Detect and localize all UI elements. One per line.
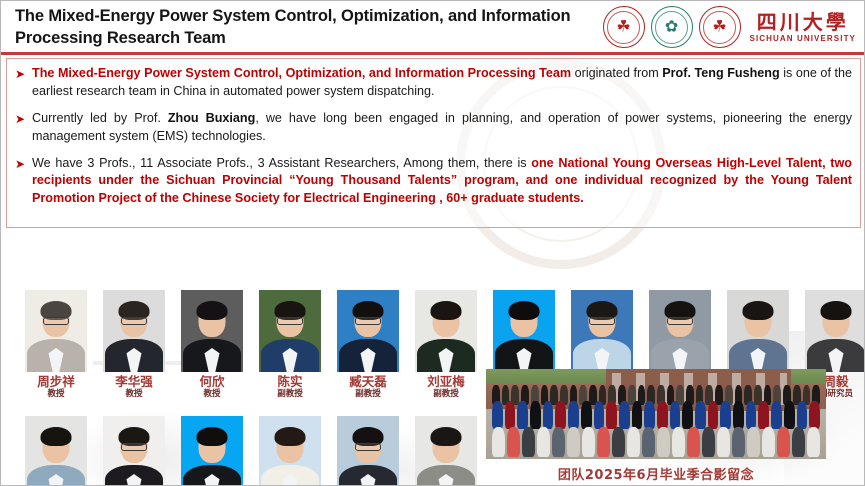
portrait-hair bbox=[431, 427, 462, 446]
group-photo-person bbox=[733, 401, 744, 429]
team-member-card[interactable]: 李华强教授 bbox=[103, 290, 165, 399]
slide-header: The Mixed-Energy Power System Control, O… bbox=[1, 1, 864, 52]
group-photo-person bbox=[792, 427, 805, 457]
group-photo-person bbox=[517, 401, 528, 429]
group-photo-person bbox=[777, 427, 790, 457]
portrait-hair bbox=[821, 301, 852, 320]
portrait-hair bbox=[431, 301, 462, 320]
member-portrait bbox=[337, 416, 399, 486]
group-photo-person bbox=[543, 401, 554, 429]
team-member-card[interactable]: 古宸嘉助理研究员 bbox=[337, 416, 399, 486]
slide-root: The Mixed-Energy Power System Control, O… bbox=[0, 0, 865, 486]
portrait-glasses bbox=[667, 317, 693, 325]
group-photo-person bbox=[672, 427, 685, 457]
bullet-item: ➤We have 3 Profs., 11 Associate Profs., … bbox=[15, 155, 852, 209]
group-photo-person bbox=[644, 401, 655, 429]
bullet-text-run: We have 3 Profs., 11 Associate Profs., 3… bbox=[32, 156, 531, 170]
group-photo-middle-row bbox=[492, 401, 820, 429]
group-photo-person bbox=[582, 427, 595, 457]
portrait-hair bbox=[509, 301, 540, 320]
member-portrait bbox=[103, 290, 165, 372]
group-photo-person bbox=[552, 427, 565, 457]
member-title: 教授 bbox=[181, 390, 243, 399]
group-photo-person bbox=[581, 401, 592, 429]
bullet-text-run: Zhou Buxiang bbox=[168, 111, 255, 125]
member-portrait bbox=[259, 290, 321, 372]
group-photo-person bbox=[597, 427, 610, 457]
header-divider bbox=[1, 52, 865, 55]
bullet-text: The Mixed-Energy Power System Control, O… bbox=[32, 65, 852, 101]
bullet-text-run: Currently led by Prof. bbox=[32, 111, 168, 125]
member-portrait bbox=[337, 290, 399, 372]
group-photo-person bbox=[702, 427, 715, 457]
bullet-text: Currently led by Prof. Zhou Buxiang, we … bbox=[32, 110, 852, 146]
group-photo-person bbox=[555, 401, 566, 429]
member-portrait bbox=[181, 416, 243, 486]
bullet-text-run: The Mixed-Energy Power System Control, O… bbox=[32, 66, 571, 80]
team-member-card[interactable]: 刘亚梅副教授 bbox=[415, 290, 477, 399]
bullet-arrow-icon: ➤ bbox=[15, 110, 32, 128]
bullet-arrow-icon: ➤ bbox=[15, 155, 32, 173]
group-photo-person bbox=[522, 427, 535, 457]
member-title: 教授 bbox=[25, 390, 87, 399]
group-photo-person bbox=[657, 401, 668, 429]
group-photo-person bbox=[797, 401, 808, 429]
group-photo-person bbox=[619, 401, 630, 429]
group-photo-person bbox=[682, 401, 693, 429]
portrait-glasses bbox=[589, 317, 615, 325]
member-portrait bbox=[415, 290, 477, 372]
group-photo-person bbox=[747, 427, 760, 457]
portrait-glasses bbox=[277, 317, 303, 325]
member-portrait bbox=[415, 416, 477, 486]
group-photo-block: 团队2025年6月毕业季合影留念 bbox=[486, 369, 826, 483]
member-portrait bbox=[649, 290, 711, 372]
member-name: 臧天磊 bbox=[337, 375, 399, 388]
portrait-hair bbox=[197, 301, 228, 320]
group-photo-person bbox=[708, 401, 719, 429]
team-member-card[interactable]: 余雪莒助理研究员 bbox=[259, 416, 321, 486]
member-portrait bbox=[103, 416, 165, 486]
member-title: 副教授 bbox=[337, 390, 399, 399]
group-photo-person bbox=[809, 401, 820, 429]
bullet-text-run: Prof. Teng Fusheng bbox=[662, 66, 779, 80]
member-title: 教授 bbox=[103, 390, 165, 399]
group-photo-person bbox=[492, 427, 505, 457]
member-title: 副教授 bbox=[259, 390, 321, 399]
team-member-card[interactable]: 阮嘉祺副研究员 bbox=[103, 416, 165, 486]
team-member-card[interactable]: 臧天磊副教授 bbox=[337, 290, 399, 399]
logo-group: ☘ ✿ ☘ 四川大學 SICHUAN UNIVERSITY bbox=[603, 5, 856, 49]
group-photo-person bbox=[657, 427, 670, 457]
team-member-card[interactable]: 刘芝孟副研究员 bbox=[181, 416, 243, 486]
portrait-hair bbox=[197, 427, 228, 446]
member-portrait bbox=[571, 290, 633, 372]
group-photo-person bbox=[568, 401, 579, 429]
sichuan-university-wordmark: 四川大學 SICHUAN UNIVERSITY bbox=[750, 12, 856, 43]
wordmark-chinese: 四川大學 bbox=[750, 12, 856, 32]
bullet-text-run: originated from bbox=[571, 66, 662, 80]
wordmark-english: SICHUAN UNIVERSITY bbox=[750, 35, 856, 43]
seal-logo-1-glyph: ☘ bbox=[604, 19, 644, 35]
team-member-card[interactable]: 周步祥教授 bbox=[25, 290, 87, 399]
group-photo-person bbox=[670, 401, 681, 429]
group-photo-caption: 团队2025年6月毕业季合影留念 bbox=[486, 464, 826, 483]
group-photo-person bbox=[717, 427, 730, 457]
member-name: 刘亚梅 bbox=[415, 375, 477, 388]
group-photo-person bbox=[537, 427, 550, 457]
member-portrait bbox=[805, 290, 865, 372]
member-title: 副教授 bbox=[415, 390, 477, 399]
portrait-glasses bbox=[121, 443, 147, 451]
bullet-item: ➤The Mixed-Energy Power System Control, … bbox=[15, 65, 852, 101]
member-portrait bbox=[259, 416, 321, 486]
seal-logo-2-icon: ✿ bbox=[651, 6, 693, 48]
member-name: 周步祥 bbox=[25, 375, 87, 388]
portrait-glasses bbox=[121, 317, 147, 325]
portrait-hair bbox=[41, 427, 72, 446]
group-photo-person bbox=[695, 401, 706, 429]
portrait-glasses bbox=[355, 443, 381, 451]
group-photo-person bbox=[732, 427, 745, 457]
group-photo-person bbox=[606, 401, 617, 429]
group-photo-person bbox=[627, 427, 640, 457]
group-photo-person bbox=[807, 427, 820, 457]
portrait-glasses bbox=[355, 317, 381, 325]
group-photo-person bbox=[632, 401, 643, 429]
group-photo-person bbox=[720, 401, 731, 429]
group-photo-person bbox=[642, 427, 655, 457]
member-name: 李华强 bbox=[103, 375, 165, 388]
team-member-card[interactable]: 刘力舟副研究员 bbox=[25, 416, 87, 486]
group-photo-image bbox=[486, 369, 826, 459]
team-member-card[interactable]: 何欣教授 bbox=[181, 290, 243, 399]
group-photo-person bbox=[594, 401, 605, 429]
portrait-hair bbox=[743, 301, 774, 320]
group-photo-person bbox=[746, 401, 757, 429]
group-photo-person bbox=[567, 427, 580, 457]
group-photo-person bbox=[687, 427, 700, 457]
team-member-card[interactable]: 杨龙杰讲师 bbox=[415, 416, 477, 486]
group-photo-person bbox=[612, 427, 625, 457]
group-photo-person bbox=[507, 427, 520, 457]
member-name: 陈实 bbox=[259, 375, 321, 388]
group-photo-person bbox=[784, 401, 795, 429]
description-textbox: ➤The Mixed-Energy Power System Control, … bbox=[6, 58, 861, 228]
member-portrait bbox=[25, 416, 87, 486]
group-photo-person bbox=[762, 427, 775, 457]
group-photo-person bbox=[771, 401, 782, 429]
bullet-text: We have 3 Profs., 11 Associate Profs., 3… bbox=[32, 155, 852, 209]
seal-logo-3-icon: ☘ bbox=[699, 6, 741, 48]
member-name: 何欣 bbox=[181, 375, 243, 388]
bullet-item: ➤Currently led by Prof. Zhou Buxiang, we… bbox=[15, 110, 852, 146]
team-row-2: 刘力舟副研究员阮嘉祺副研究员刘芝孟副研究员余雪莒助理研究员古宸嘉助理研究员杨龙杰… bbox=[1, 416, 501, 486]
portrait-glasses bbox=[43, 317, 69, 325]
member-portrait bbox=[25, 290, 87, 372]
group-photo-front-row bbox=[492, 427, 820, 457]
bullet-arrow-icon: ➤ bbox=[15, 65, 32, 83]
group-photo-person bbox=[758, 401, 769, 429]
seal-logo-2-glyph: ✿ bbox=[652, 19, 692, 35]
page-title: The Mixed-Energy Power System Control, O… bbox=[15, 6, 615, 50]
member-portrait bbox=[493, 290, 555, 372]
portrait-hair bbox=[275, 427, 306, 446]
member-portrait bbox=[727, 290, 789, 372]
member-portrait bbox=[181, 290, 243, 372]
team-member-card[interactable]: 陈实副教授 bbox=[259, 290, 321, 399]
group-photo-person bbox=[530, 401, 541, 429]
seal-logo-3-glyph: ☘ bbox=[700, 19, 740, 35]
group-photo-person bbox=[505, 401, 516, 429]
seal-logo-1-icon: ☘ bbox=[603, 6, 645, 48]
group-photo-person bbox=[492, 401, 503, 429]
